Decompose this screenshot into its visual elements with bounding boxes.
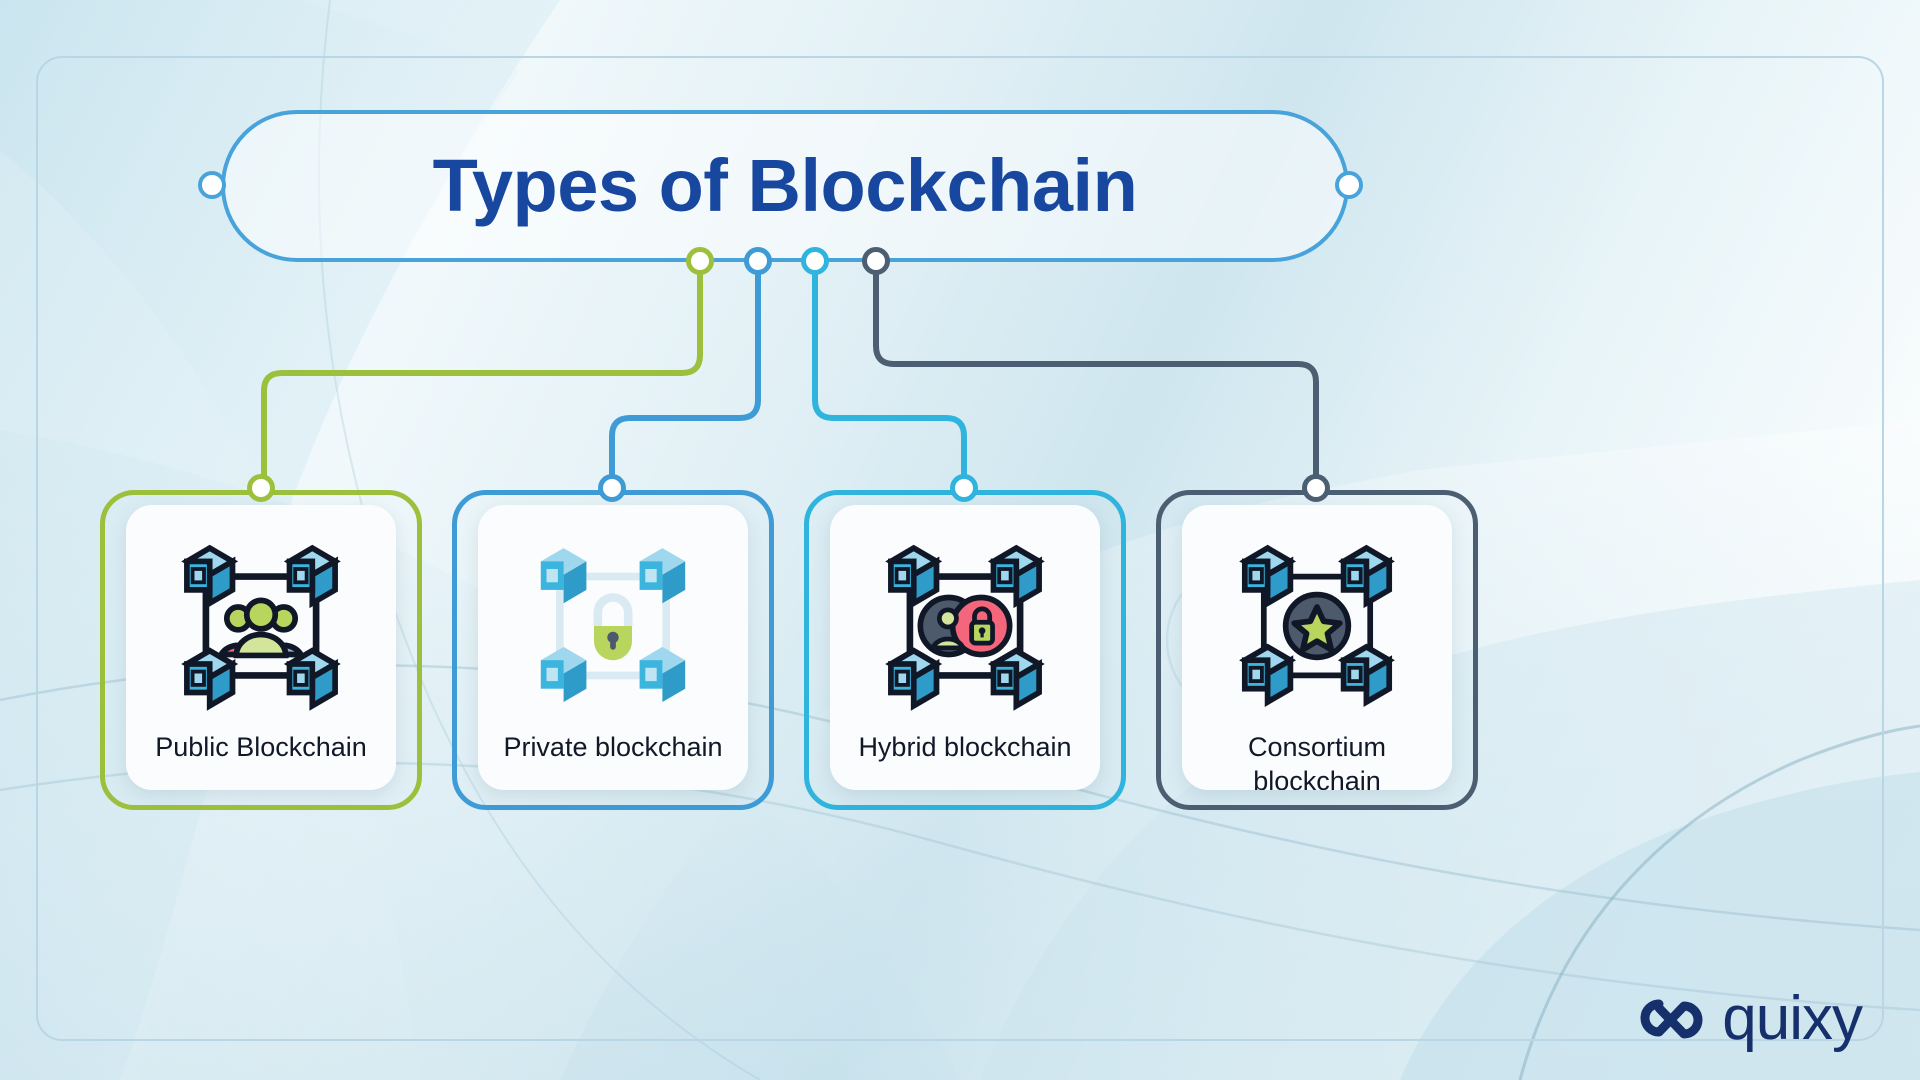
card-private[interactable]: Private blockchain	[478, 505, 748, 790]
card-node-dot-public	[247, 474, 275, 502]
branch-node-dot-green	[686, 247, 714, 275]
quixy-wordmark: quixy	[1722, 988, 1862, 1050]
page-title: Types of Blockchain	[433, 149, 1138, 223]
blockchain-padlock-icon	[518, 531, 708, 721]
quixy-logo[interactable]: quixy	[1632, 988, 1862, 1050]
blockchain-user-lock-icon	[870, 531, 1060, 721]
card-node-dot-consortium	[1302, 474, 1330, 502]
wire-consortium	[876, 261, 1316, 488]
card-label-private: Private blockchain	[493, 731, 732, 765]
card-consortium[interactable]: Consortium blockchain	[1182, 505, 1452, 790]
infographic-canvas: Types of Blockchain	[0, 0, 1920, 1080]
card-node-dot-private	[598, 474, 626, 502]
card-node-dot-hybrid	[950, 474, 978, 502]
branch-node-dot-blue	[744, 247, 772, 275]
blockchain-star-icon	[1222, 531, 1412, 721]
wire-hybrid	[815, 261, 964, 488]
card-public[interactable]: Public Blockchain	[126, 505, 396, 790]
branch-node-dot-slate	[862, 247, 890, 275]
card-label-hybrid: Hybrid blockchain	[848, 731, 1081, 765]
wire-public	[264, 261, 700, 488]
card-label-consortium: Consortium blockchain	[1238, 731, 1396, 790]
branch-node-dot-cyan	[801, 247, 829, 275]
card-label-public: Public Blockchain	[145, 731, 377, 765]
blockchain-people-icon	[166, 531, 356, 721]
title-right-node-dot	[1335, 171, 1363, 199]
card-hybrid[interactable]: Hybrid blockchain	[830, 505, 1100, 790]
title-left-node-dot	[198, 171, 226, 199]
title-pill: Types of Blockchain	[221, 110, 1349, 262]
quixy-infinity-mark-icon	[1632, 988, 1710, 1050]
